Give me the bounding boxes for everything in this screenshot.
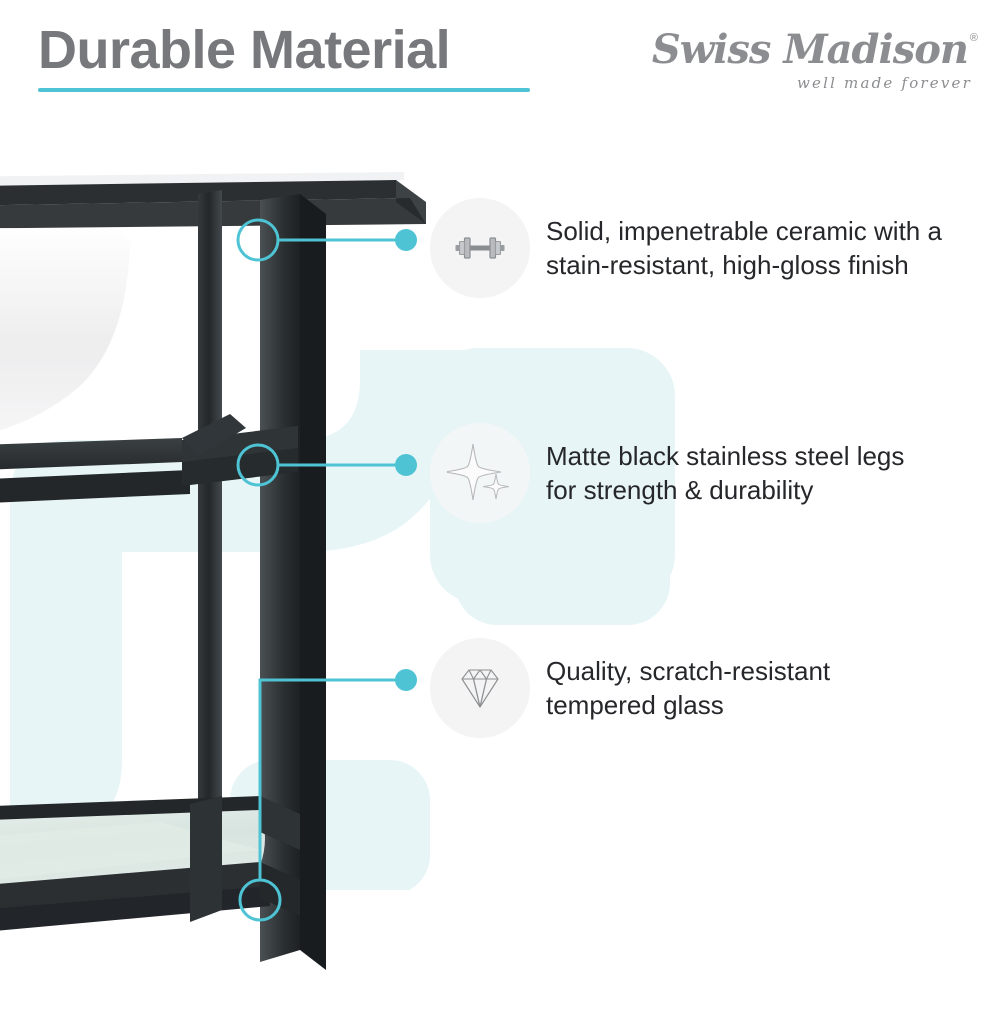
brand-logo: Swiss Madison ® well made forever <box>678 26 978 96</box>
feature-text: Quality, scratch-resistant tempered glas… <box>546 654 830 723</box>
dumbbell-icon <box>449 217 511 279</box>
brand-tagline: well made forever <box>797 74 972 92</box>
title-underline <box>38 88 530 92</box>
sparkle-icon <box>447 440 513 506</box>
feature-icon-badge <box>430 198 530 298</box>
diamond-icon <box>451 659 509 717</box>
feature-icon-badge <box>430 638 530 738</box>
registered-trademark-icon: ® <box>970 32 978 44</box>
feature-item-tempered-glass: Quality, scratch-resistant tempered glas… <box>430 638 830 738</box>
feature-text: Solid, impenetrable ceramic with a stain… <box>546 214 942 283</box>
infographic-canvas: Durable Material Swiss Madison ® well ma… <box>0 0 1000 1000</box>
feature-item-ceramic: Solid, impenetrable ceramic with a stain… <box>430 198 942 298</box>
brand-name: Swiss Madison <box>652 26 968 73</box>
page-title: Durable Material <box>38 22 450 79</box>
feature-item-steel-legs: Matte black stainless steel legs for str… <box>430 423 904 523</box>
vanity-product-image <box>0 150 430 1010</box>
feature-text: Matte black stainless steel legs for str… <box>546 439 904 508</box>
feature-icon-badge <box>430 423 530 523</box>
